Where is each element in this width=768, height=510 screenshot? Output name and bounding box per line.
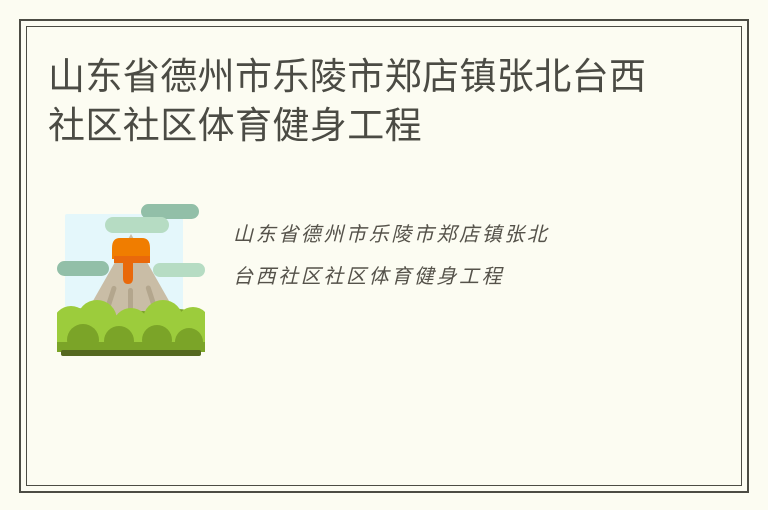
cloud-bar-upper [105, 217, 169, 233]
lava-spill [114, 256, 150, 263]
caption-line-2: 台西社区社区体育健身工程 [233, 256, 663, 298]
cloud-bar-top-right [141, 204, 199, 219]
volcano-icon [57, 200, 205, 360]
media-row: 山东省德州市乐陵市郑店镇张北 台西社区社区体育健身工程 [57, 200, 677, 365]
cloud-bar-left [57, 261, 109, 276]
ground-line [61, 350, 201, 356]
cloud-bar-right [153, 263, 205, 277]
caption-text: 山东省德州市乐陵市郑店镇张北 台西社区社区体育健身工程 [233, 214, 663, 298]
content-area: 山东省德州市乐陵市郑店镇张北台西社区社区体育健身工程 [48, 52, 688, 150]
volcano-illustration [57, 200, 205, 360]
page-root: 山东省德州市乐陵市郑店镇张北台西社区社区体育健身工程 [0, 0, 768, 510]
caption-line-1: 山东省德州市乐陵市郑店镇张北 [233, 214, 663, 256]
page-title: 山东省德州市乐陵市郑店镇张北台西社区社区体育健身工程 [48, 52, 648, 150]
